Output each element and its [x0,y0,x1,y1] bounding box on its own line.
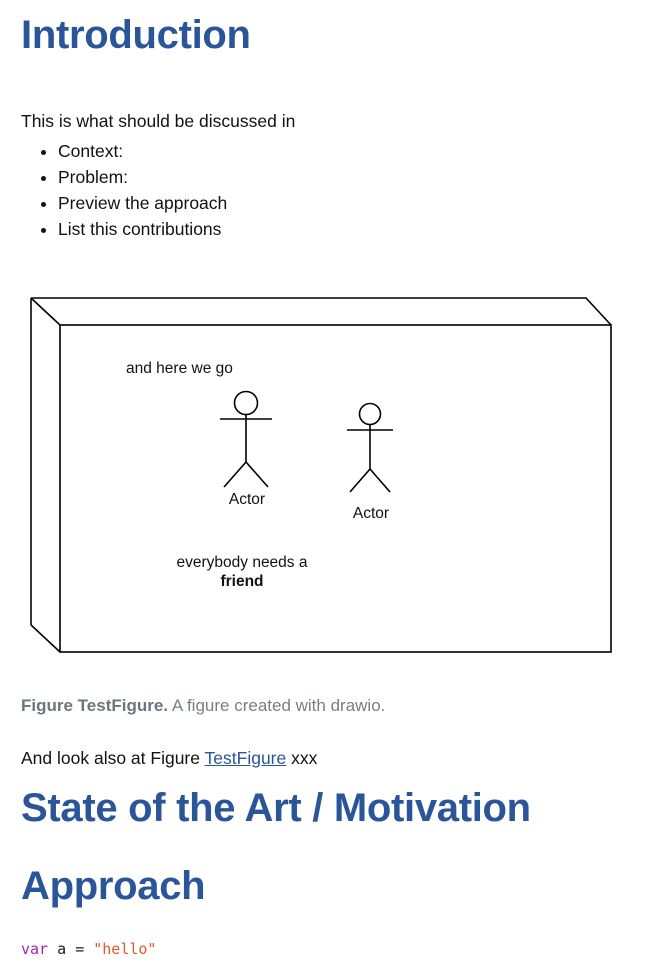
list-item: Preview the approach [58,190,227,216]
actor-one-label: Actor [229,491,265,508]
figure-note-top: and here we go [126,360,233,377]
actor-leg-right [370,469,390,492]
figure-reference-link[interactable]: TestFigure [205,748,287,768]
reference-text-after: xxx [286,748,317,768]
section-heading-state-of-the-art: State of the Art / Motivation [21,782,631,834]
uml-actor-stick-figure [220,392,272,488]
box-bottom-left-diagonal [31,625,60,652]
box-front-face [60,325,611,652]
3d-box-container [31,298,611,652]
document-page: Introduction This is what should be disc… [0,0,648,978]
actor-leg-left [350,469,370,492]
list-item: Context: [58,138,227,164]
box-top-edge [31,298,611,325]
figure-reference-paragraph: And look also at Figure TestFigure xxx [21,746,317,770]
figure-note-bottom-line1: everybody needs a [177,554,308,571]
box-top-left-diagonal [31,298,60,325]
discussion-bullet-list: Context: Problem: Preview the approach L… [40,138,227,242]
code-token-variable: a [48,940,75,958]
figure-caption-label: Figure TestFigure. [21,696,168,715]
figure-caption-text: A figure created with drawio. [168,696,385,715]
actor-two-label: Actor [353,505,389,522]
actor-leg-left [224,462,246,487]
actor-head [360,404,381,425]
figure-note-bottom-line2: friend [220,573,263,590]
code-token-keyword: var [21,940,48,958]
code-token-operator: = [75,940,93,958]
actor-head [235,392,258,415]
uml-actor-stick-figure [347,404,393,493]
list-item: List this contributions [58,216,227,242]
intro-paragraph: This is what should be discussed in [21,109,295,133]
section-heading-approach: Approach [21,860,205,912]
code-token-string: "hello" [93,940,156,958]
code-block: var a = "hello" [21,938,156,960]
list-item: Problem: [58,164,227,190]
reference-text-before: And look also at Figure [21,748,205,768]
actor-leg-right [246,462,268,487]
page-title-introduction: Introduction [21,11,251,59]
figure-caption: Figure TestFigure. A figure created with… [21,695,385,717]
